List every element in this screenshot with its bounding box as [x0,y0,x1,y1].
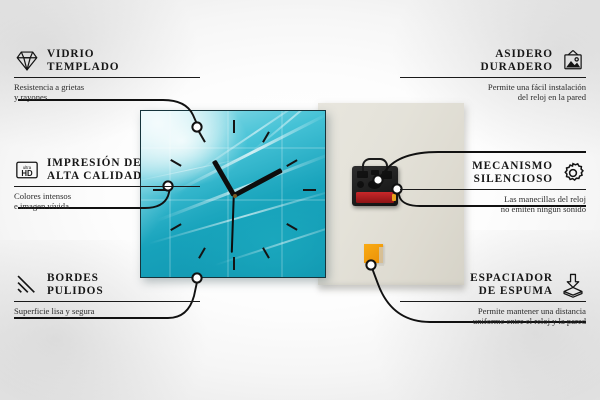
feature-desc-line2: y rayones [14,92,200,102]
feature-desc-line2: uniforme entre el reloj y la pared [400,316,586,326]
feature-title-line1: MECANISMO [472,160,553,173]
feature-title-line2: DURADERO [481,61,553,74]
polished-edge-icon [14,272,40,298]
feature-title-line1: ASIDERO [481,48,553,61]
feature-desc-line1: Las manecillas del reloj [400,194,586,204]
feature-desc-line1: Permite una fácil instalación [400,82,586,92]
node-hook [373,175,382,184]
node-foam [366,260,375,269]
feature-desc-line1: Resistencia a grietas [14,82,200,92]
feature-divider [14,301,200,302]
ultra-hd-icon: ultra HD [14,157,40,183]
feature-bordes-pulidos: BORDES PULIDOS Superficie lisa y segura [14,272,200,316]
feature-asidero-duradero: ASIDERO DURADERO Permite una fácil insta… [400,48,586,102]
feature-desc-line1: Permite mantener una distancia [400,306,586,316]
feature-title-line1: VIDRIO [47,48,119,61]
feature-title-line1: BORDES [47,272,104,285]
feature-title-line1: ESPACIADOR [470,272,553,285]
feature-title-line2: SILENCIOSO [472,173,553,186]
arrow-onto-stack-icon [560,272,586,298]
feature-divider [400,301,586,302]
feature-title-line2: ALTA CALIDAD [47,170,142,183]
infographic-canvas: VIDRIO TEMPLADO Resistencia a grietas y … [0,0,600,400]
feature-divider [14,186,200,187]
feature-vidrio-templado: VIDRIO TEMPLADO Resistencia a grietas y … [14,48,200,102]
feature-divider [400,189,586,190]
feature-desc-line1: Colores intensos [14,191,200,201]
feature-divider [400,77,586,78]
framed-picture-hanger-icon [560,48,586,74]
feature-title-line1: IMPRESIÓN DE [47,157,142,170]
feature-mecanismo-silencioso: MECANISMO SILENCIOSO Las manecillas del … [400,160,586,214]
feature-divider [14,77,200,78]
feature-desc-line1: Superficie lisa y segura [14,306,200,316]
wire-glass [18,100,197,124]
feature-title-line2: DE ESPUMA [470,285,553,298]
feature-title-line2: TEMPLADO [47,61,119,74]
feature-impresion-alta-calidad: ultra HD IMPRESIÓN DE ALTA CALIDAD Color… [14,157,200,211]
gear-icon [560,160,586,186]
node-glass [192,122,201,131]
feature-title-line2: PULIDOS [47,285,104,298]
feature-desc-line2: del reloj en la pared [400,92,586,102]
feature-desc-line2: no emiten ningún sonido [400,204,586,214]
feature-espaciador-espuma: ESPACIADOR DE ESPUMA Permite mantener un… [400,272,586,326]
ultra-hd-large-text: HD [21,169,33,178]
diamond-icon [14,48,40,74]
feature-desc-line2: e imagen vívida [14,201,200,211]
